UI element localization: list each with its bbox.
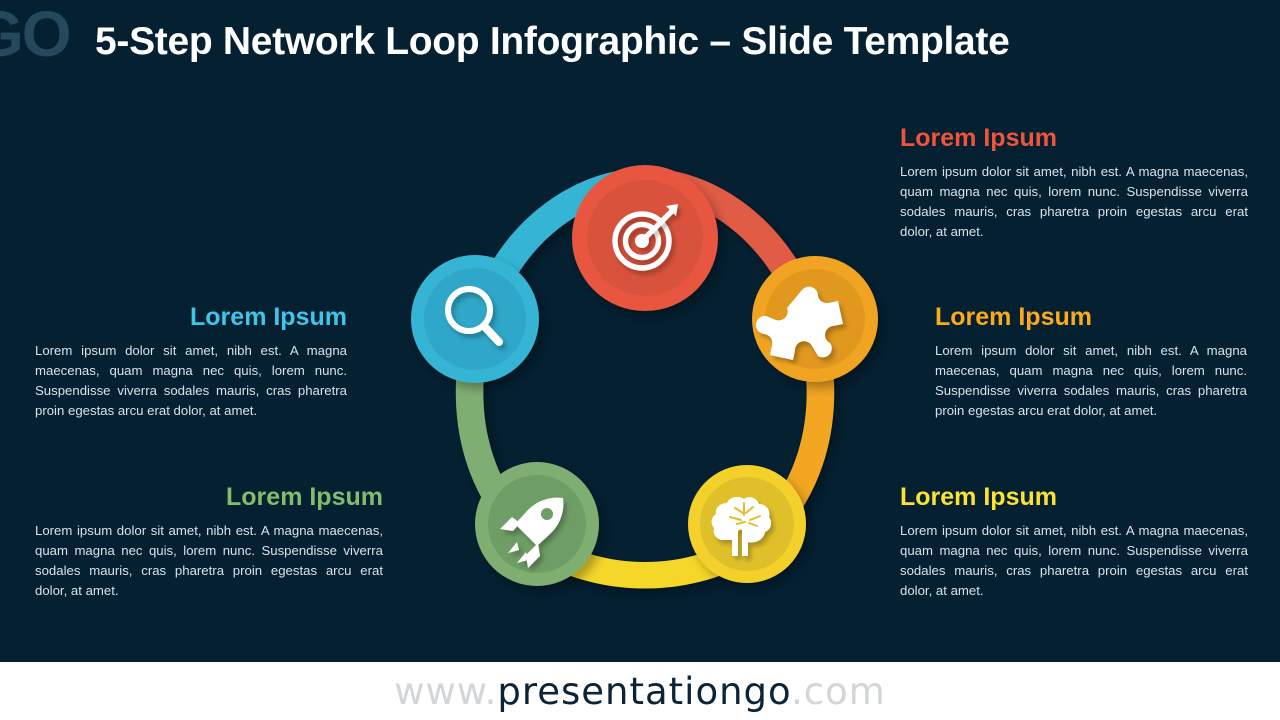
node-step-3[interactable] — [688, 465, 806, 583]
node-step-4[interactable] — [475, 462, 599, 586]
footer-bar: www.presentationgo.com — [0, 662, 1280, 720]
slide-canvas: GO 5-Step Network Loop Infographic – Sli… — [0, 0, 1280, 720]
step-5-inner-disc[interactable] — [424, 268, 526, 370]
url-brand: presentationgo — [497, 670, 791, 713]
block-body-bottom-right: Lorem ipsum dolor sit amet, nibh est. A … — [900, 521, 1248, 601]
block-heading-bottom-right: Lorem Ipsum — [900, 483, 1248, 512]
node-step-1[interactable] — [572, 165, 718, 311]
block-heading-bottom-left: Lorem Ipsum — [35, 483, 383, 512]
block-body-middle-left: Lorem ipsum dolor sit amet, nibh est. A … — [35, 341, 347, 421]
slide-stage: GO 5-Step Network Loop Infographic – Sli… — [0, 0, 1280, 662]
url-prefix: www. — [394, 670, 497, 713]
page-title: 5-Step Network Loop Infographic – Slide … — [95, 20, 1265, 64]
url-suffix: .com — [791, 670, 886, 713]
text-block-middle-left: Lorem Ipsum Lorem ipsum dolor sit amet, … — [35, 303, 347, 421]
text-block-bottom-left: Lorem Ipsum Lorem ipsum dolor sit amet, … — [35, 483, 383, 601]
text-block-top-right: Lorem Ipsum Lorem ipsum dolor sit amet, … — [900, 124, 1248, 242]
site-url[interactable]: www.presentationgo.com — [394, 670, 886, 713]
text-block-middle-right: Lorem Ipsum Lorem ipsum dolor sit amet, … — [935, 303, 1247, 421]
block-heading-middle-left: Lorem Ipsum — [35, 303, 347, 332]
block-body-middle-right: Lorem ipsum dolor sit amet, nibh est. A … — [935, 341, 1247, 421]
block-heading-top-right: Lorem Ipsum — [900, 124, 1248, 153]
node-step-5[interactable] — [411, 255, 539, 383]
loop-diagram-svg — [395, 118, 895, 608]
text-block-bottom-right: Lorem Ipsum Lorem ipsum dolor sit amet, … — [900, 483, 1248, 601]
block-body-top-right: Lorem ipsum dolor sit amet, nibh est. A … — [900, 162, 1248, 242]
presentationgo-watermark-logo: GO — [0, 2, 70, 66]
block-heading-middle-right: Lorem Ipsum — [935, 303, 1247, 332]
pentagon-loop-diagram — [395, 118, 895, 608]
node-step-2[interactable] — [752, 256, 878, 382]
block-body-bottom-left: Lorem ipsum dolor sit amet, nibh est. A … — [35, 521, 383, 601]
